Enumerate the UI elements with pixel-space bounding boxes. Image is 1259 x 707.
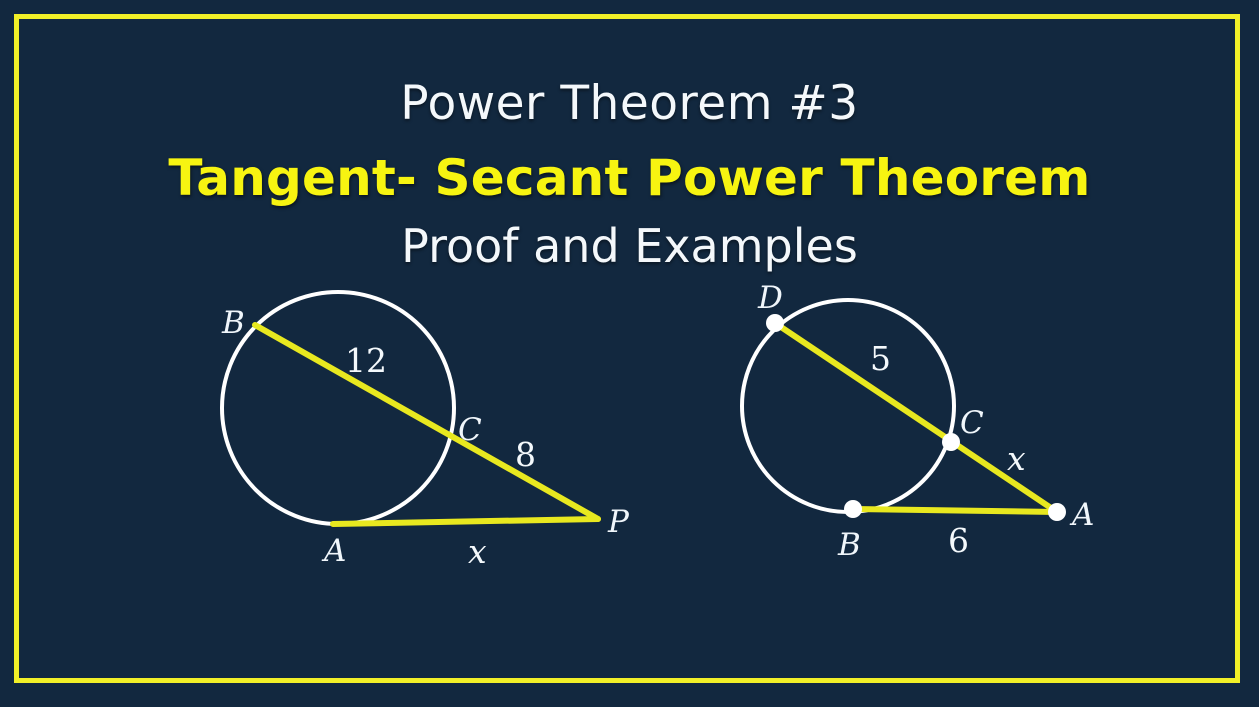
- length-label-12-left: 12: [345, 341, 387, 380]
- tangent-secant-example-diagram: D C B A 5 x 6: [710, 280, 1130, 580]
- vertex-dot-c: [942, 433, 960, 451]
- vertex-dot-d: [766, 314, 784, 332]
- vertex-dot-b: [844, 500, 862, 518]
- length-label-x-left: x: [468, 532, 487, 571]
- point-label-d-right: D: [757, 280, 783, 316]
- length-label-5-right: 5: [870, 339, 891, 378]
- figures-row: B C A P 12 8 x D C B A: [0, 280, 1259, 580]
- slide-supertitle: Power Theorem #3: [0, 74, 1259, 134]
- tangent-secant-proof-diagram: B C A P 12 8 x: [190, 280, 660, 580]
- length-label-6-right: 6: [948, 521, 969, 560]
- slide-main-title: Tangent- Secant Power Theorem: [0, 146, 1259, 210]
- length-label-x-right: x: [1007, 439, 1026, 478]
- tangent-line-ba: [853, 509, 1057, 512]
- point-label-a-left: A: [321, 533, 346, 569]
- slide-canvas: Power Theorem #3 Tangent- Secant Power T…: [0, 0, 1259, 707]
- point-label-a-right: A: [1069, 497, 1094, 533]
- point-label-b-right: B: [837, 527, 861, 563]
- length-label-8-left: 8: [515, 435, 536, 474]
- point-label-c-left: C: [458, 412, 482, 448]
- vertex-dot-a: [1048, 503, 1066, 521]
- slide-subtitle: Proof and Examples: [0, 216, 1259, 276]
- point-label-b-left: B: [221, 305, 245, 341]
- point-label-p-left: P: [607, 504, 630, 540]
- secant-line-da: [775, 323, 1057, 512]
- secant-line-bp: [255, 325, 598, 519]
- point-label-c-right: C: [960, 405, 984, 441]
